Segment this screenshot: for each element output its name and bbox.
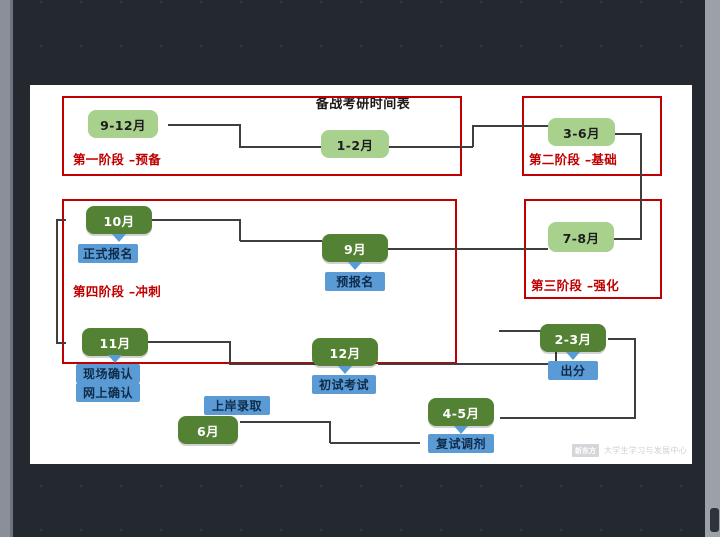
connector-1_2-to-3_6-v — [472, 125, 474, 147]
down-arrow-icon-10 — [112, 234, 126, 242]
phase-label-4: 第四阶段 –冲刺 — [73, 281, 161, 300]
connector-4_5-to-6-h1 — [240, 421, 330, 423]
connector-9_12-to-1_2-v — [239, 124, 241, 148]
node-chip-7-8-month[interactable]: 7-8月 — [548, 222, 614, 252]
connector-9-to-10-h2 — [240, 240, 322, 242]
connector-1_2-to-3_6-h1 — [388, 146, 473, 148]
node-chip-9-12-month[interactable]: 9-12月 — [88, 110, 158, 138]
connector-10-to-11-v — [56, 219, 58, 343]
tag-pre-registration[interactable]: 预报名 — [325, 272, 385, 291]
connector-9-to-10-h1 — [152, 219, 240, 221]
connector-3_6-to-7_8-h2 — [612, 238, 642, 240]
tag-first-exam[interactable]: 初试考试 — [312, 375, 376, 394]
node-chip-11-month[interactable]: 11月 — [82, 328, 148, 356]
connector-1_2-to-3_6-h2 — [472, 125, 550, 127]
right-chrome-strip — [705, 0, 720, 537]
node-chip-4-5-month[interactable]: 4-5月 — [428, 398, 494, 426]
phase-label-1: 第一阶段 –预备 — [73, 149, 161, 168]
down-arrow-icon-4-5 — [454, 426, 468, 434]
connector-11-left-tick — [56, 342, 66, 344]
node-chip-6-month[interactable]: 6月 — [178, 416, 238, 444]
watermark-logo: 新东方 — [572, 444, 599, 457]
tag-online-confirm[interactable]: 网上确认 — [76, 383, 140, 402]
connector-9_12-to-1_2-h2 — [239, 146, 321, 148]
tag-admission[interactable]: 上岸录取 — [204, 396, 270, 415]
tag-reexam-adjust[interactable]: 复试调剂 — [428, 434, 494, 453]
node-chip-2-3-month[interactable]: 2-3月 — [540, 324, 606, 352]
node-chip-9-month[interactable]: 9月 — [322, 234, 388, 262]
watermark-text: 大学生学习与发展中心 — [604, 445, 687, 456]
connector-2_3-to-4_5-v — [634, 338, 636, 418]
connector-3_6-to-7_8-v — [640, 133, 642, 239]
connector-9_12-to-1_2-h1 — [168, 124, 240, 126]
phase-label-3: 第三阶段 –强化 — [531, 275, 619, 294]
down-arrow-icon-2-3 — [566, 352, 580, 360]
connector-2_3-to-4_5-h2 — [500, 417, 636, 419]
connector-7_8-to-9-h — [388, 248, 548, 250]
down-arrow-icon-11 — [108, 355, 122, 363]
connector-3_6-to-7_8-h1 — [614, 133, 642, 135]
node-chip-1-2-month[interactable]: 1-2月 — [321, 130, 389, 158]
tag-official-registration[interactable]: 正式报名 — [78, 244, 138, 263]
node-chip-12-month[interactable]: 12月 — [312, 338, 378, 366]
connector-11-to-12-h2 — [229, 363, 319, 365]
down-arrow-icon-12 — [338, 366, 352, 374]
connector-4_5-to-6-h2 — [330, 442, 420, 444]
connector-11-to-12-h1 — [148, 341, 230, 343]
phase-label-2: 第二阶段 –基础 — [529, 149, 617, 168]
connector-12-to-2_3-h — [378, 363, 556, 365]
connector-4_5-to-6-v — [329, 421, 331, 443]
scrollbar-thumb[interactable] — [710, 508, 719, 532]
screenshot-root: 备战考研时间表 第一阶段 –预备 第二阶段 –基础 第三阶段 –强化 第四阶段 … — [0, 0, 720, 537]
tag-score-release[interactable]: 出分 — [548, 361, 598, 380]
node-chip-3-6-month[interactable]: 3-6月 — [548, 118, 615, 146]
down-arrow-icon-9 — [348, 262, 362, 270]
tag-onsite-confirm[interactable]: 现场确认 — [76, 364, 140, 383]
connector-11-to-12-v — [229, 341, 231, 364]
connector-2_3-to-4_5-h1 — [608, 338, 636, 340]
watermark: 新东方 大学生学习与发展中心 — [572, 444, 687, 457]
connector-9-to-10-v — [239, 219, 241, 241]
node-chip-10-month[interactable]: 10月 — [86, 206, 152, 234]
